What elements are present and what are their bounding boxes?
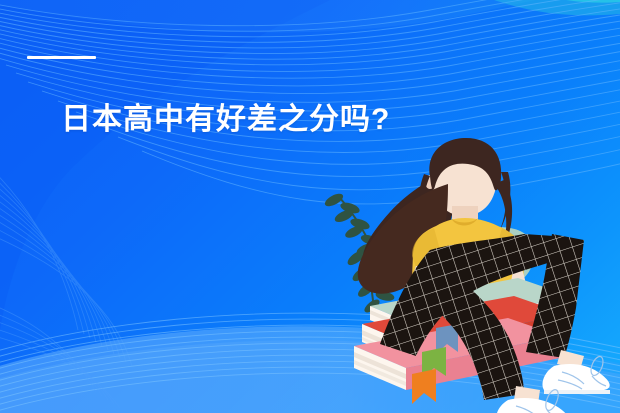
bookmark-orange — [412, 369, 436, 404]
illustration-girl-on-books — [318, 138, 620, 413]
page-title: 日本高中有好差之分吗? — [61, 103, 390, 137]
banner-canvas: 日本高中有好差之分吗? — [0, 0, 620, 413]
accent-rule — [27, 56, 96, 59]
